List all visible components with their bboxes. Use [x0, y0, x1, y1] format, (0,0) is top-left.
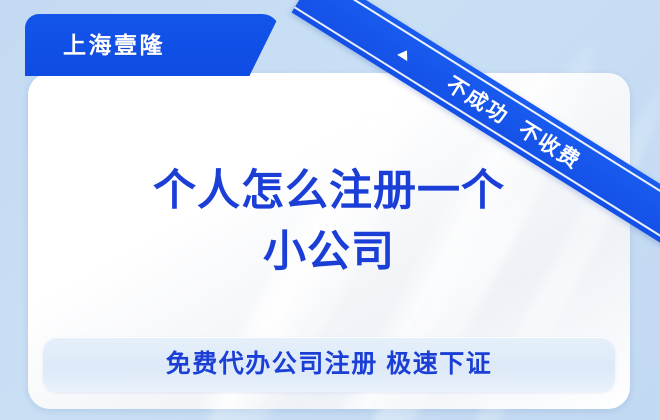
cta-banner[interactable]: 免费代办公司注册 极速下证 — [43, 337, 615, 392]
brand-tab-label: 上海壹隆 — [63, 34, 165, 57]
title-line-2: 小公司 — [28, 222, 630, 283]
brand-tab[interactable]: 上海壹隆 — [25, 14, 280, 76]
title-line-1: 个人怎么注册一个 — [28, 161, 630, 222]
page-title: 个人怎么注册一个 小公司 — [28, 161, 630, 283]
cta-banner-label: 免费代办公司注册 极速下证 — [166, 352, 492, 377]
poster-canvas: 个人怎么注册一个 小公司 免费代办公司注册 极速下证 上海壹隆 不成功 不收费 — [0, 0, 660, 420]
